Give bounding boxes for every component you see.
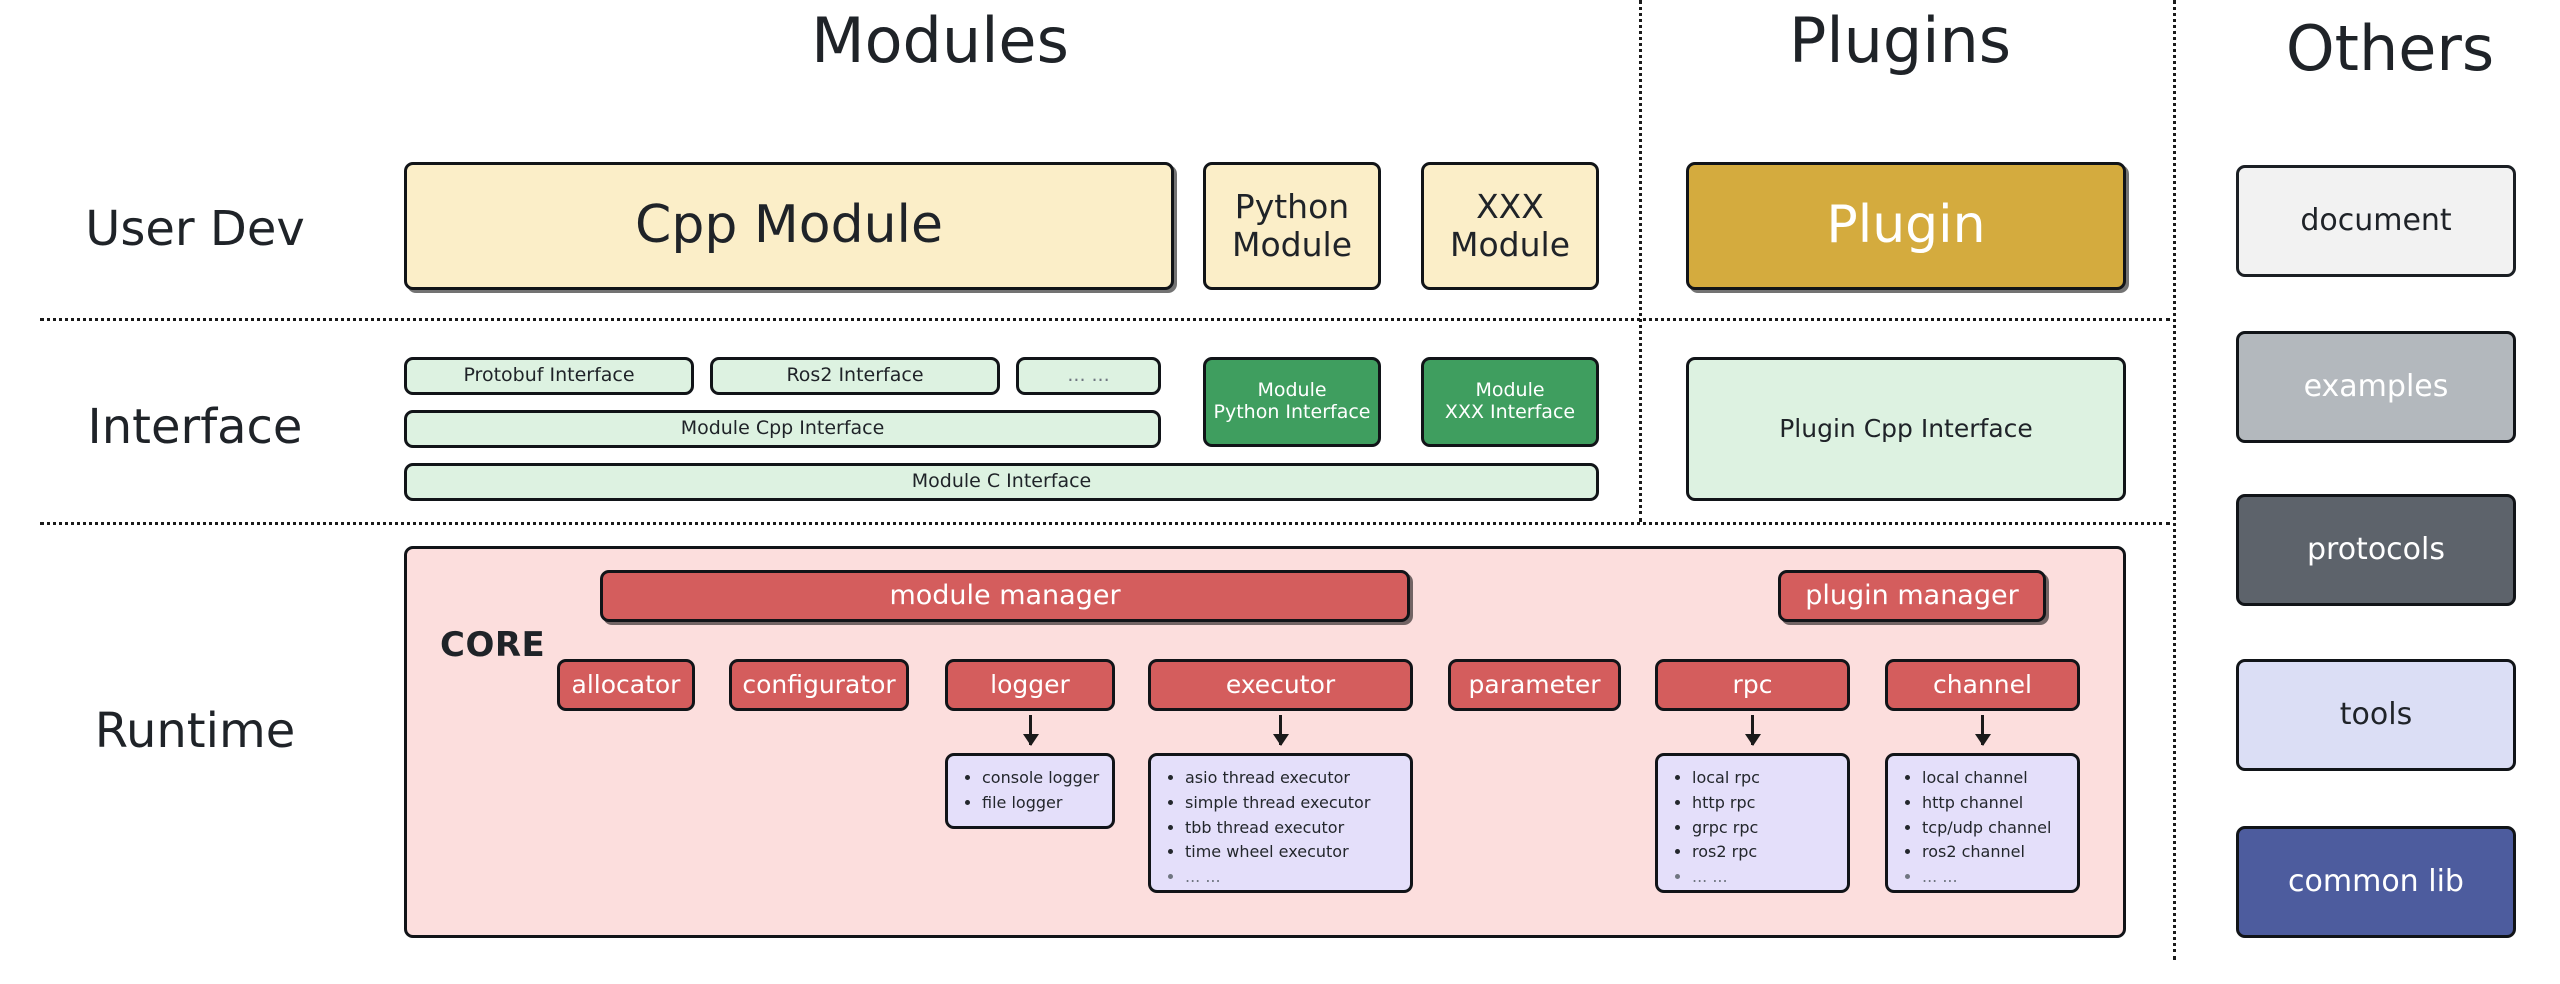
channel-arrow-icon — [1981, 715, 1984, 745]
executor-items: asio thread executorsimple thread execut… — [1165, 766, 1402, 890]
protobuf-interface-box[interactable]: Protobuf Interface — [404, 357, 694, 395]
channel-box[interactable]: channel — [1885, 659, 2080, 711]
column-title-modules: Modules — [640, 10, 1240, 72]
plugin-manager-box[interactable]: plugin manager — [1778, 570, 2046, 622]
rpc-items: local rpchttp rpcgrpc rpcros2 rpc... ... — [1672, 766, 1839, 890]
list-item: asio thread executor — [1185, 766, 1402, 791]
configurator-box[interactable]: configurator — [729, 659, 909, 711]
list-item: simple thread executor — [1185, 791, 1402, 816]
list-item: http rpc — [1692, 791, 1839, 816]
executor-arrow-icon — [1279, 715, 1282, 745]
list-item: ... ... — [1185, 865, 1402, 890]
module-c-interface-box[interactable]: Module C Interface — [404, 463, 1599, 501]
row-label-runtime: Runtime — [20, 707, 370, 755]
executor-detail-list[interactable]: asio thread executorsimple thread execut… — [1148, 753, 1413, 893]
logger-box[interactable]: logger — [945, 659, 1115, 711]
others-common-lib-box[interactable]: common lib — [2236, 826, 2516, 938]
rpc-box[interactable]: rpc — [1655, 659, 1850, 711]
divider-plugins-others — [2173, 0, 2176, 960]
parameter-box[interactable]: parameter — [1448, 659, 1621, 711]
core-label: CORE — [440, 625, 545, 665]
list-item: ... ... — [1922, 865, 2069, 890]
list-item: grpc rpc — [1692, 816, 1839, 841]
others-examples-box[interactable]: examples — [2236, 331, 2516, 443]
column-title-plugins: Plugins — [1700, 10, 2100, 72]
rpc-arrow-icon — [1751, 715, 1754, 745]
row-label-user-dev: User Dev — [20, 205, 370, 253]
list-item: console logger — [982, 766, 1104, 791]
executor-box[interactable]: executor — [1148, 659, 1413, 711]
divider-interface-runtime — [40, 522, 2170, 525]
plugin-cpp-interface-box[interactable]: Plugin Cpp Interface — [1686, 357, 2126, 501]
ros2-interface-box[interactable]: Ros2 Interface — [710, 357, 1000, 395]
divider-userdev-interface — [40, 318, 2170, 321]
row-label-interface: Interface — [20, 403, 370, 451]
module-python-interface-box[interactable]: Module Python Interface — [1203, 357, 1381, 447]
module-manager-box[interactable]: module manager — [600, 570, 1410, 622]
list-item: ... ... — [1692, 865, 1839, 890]
python-module-box[interactable]: Python Module — [1203, 162, 1381, 290]
logger-arrow-icon — [1029, 715, 1032, 745]
logger-items: console loggerfile logger — [962, 766, 1104, 816]
list-item: ros2 rpc — [1692, 840, 1839, 865]
xxx-module-box[interactable]: XXX Module — [1421, 162, 1599, 290]
allocator-box[interactable]: allocator — [557, 659, 695, 711]
list-item: tcp/udp channel — [1922, 816, 2069, 841]
channel-detail-list[interactable]: local channelhttp channeltcp/udp channel… — [1885, 753, 2080, 893]
list-item: local channel — [1922, 766, 2069, 791]
list-item: ros2 channel — [1922, 840, 2069, 865]
module-cpp-interface-box[interactable]: Module Cpp Interface — [404, 410, 1161, 448]
divider-modules-plugins — [1639, 0, 1642, 522]
list-item: time wheel executor — [1185, 840, 1402, 865]
others-document-box[interactable]: document — [2236, 165, 2516, 277]
cpp-module-box[interactable]: Cpp Module — [404, 162, 1174, 290]
others-tools-box[interactable]: tools — [2236, 659, 2516, 771]
rpc-detail-list[interactable]: local rpchttp rpcgrpc rpcros2 rpc... ... — [1655, 753, 1850, 893]
list-item: http channel — [1922, 791, 2069, 816]
list-item: local rpc — [1692, 766, 1839, 791]
module-xxx-interface-box[interactable]: Module XXX Interface — [1421, 357, 1599, 447]
more-interface-box[interactable]: ... ... — [1016, 357, 1161, 395]
column-title-others: Others — [2230, 18, 2550, 80]
plugin-box[interactable]: Plugin — [1686, 162, 2126, 290]
logger-detail-list[interactable]: console loggerfile logger — [945, 753, 1115, 829]
architecture-diagram: Modules Plugins Others User Dev Interfac… — [0, 0, 2560, 984]
list-item: tbb thread executor — [1185, 816, 1402, 841]
others-protocols-box[interactable]: protocols — [2236, 494, 2516, 606]
channel-items: local channelhttp channeltcp/udp channel… — [1902, 766, 2069, 890]
list-item: file logger — [982, 791, 1104, 816]
